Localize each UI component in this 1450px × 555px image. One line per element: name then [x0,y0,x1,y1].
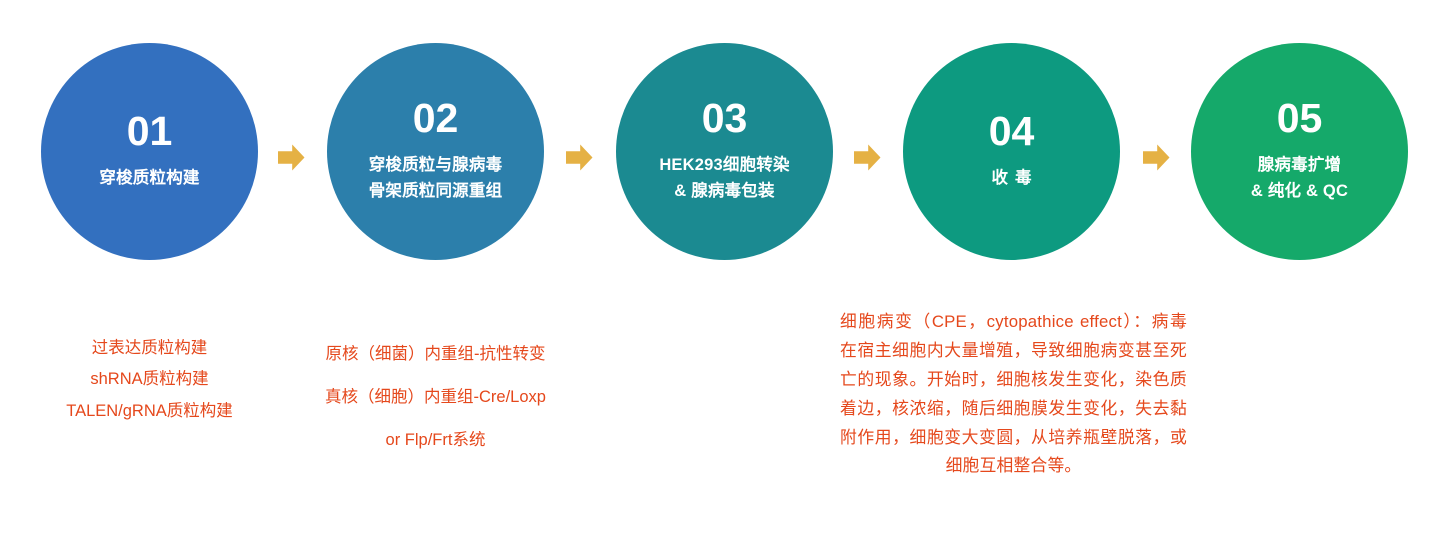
right-arrow-icon [278,143,305,172]
step-captions-01: 过表达质粒构建 shRNA质粒构建 TALEN/gRNA质粒构建 [20,333,279,427]
step-circle-04[interactable]: 04 收毒 [903,43,1120,260]
process-flow-diagram: 01 穿梭质粒构建 02 穿梭质粒与腺病毒 骨架质粒同源重组 03 HEK293… [0,0,1450,555]
caption-line: 真核（细胞）内重组-Cre/Loxp or Flp/Frt系统 [292,376,579,462]
right-arrow-icon [566,143,593,172]
step-title-01: 穿梭质粒构建 [99,166,199,192]
step-number-04: 04 [989,111,1035,152]
step-circle-02[interactable]: 02 穿梭质粒与腺病毒 骨架质粒同源重组 [327,43,544,260]
step-captions-02: 原核（细菌）内重组-抗性转变 真核（细胞）内重组-Cre/Loxp or Flp… [292,333,579,462]
caption-line: 过表达质粒构建 [20,333,279,364]
step-captions-04: 细胞病变（CPE，cytopathice effect）：病毒在宿主细胞内大量增… [840,308,1187,481]
step-title-03: HEK293细胞转染 & 腺病毒包装 [659,153,789,204]
step-number-01: 01 [127,111,173,152]
step-circle-05[interactable]: 05 腺病毒扩增 & 纯化 & QC [1191,43,1408,260]
right-arrow-icon [854,143,881,172]
step-number-03: 03 [702,98,748,139]
caption-line: TALEN/gRNA质粒构建 [20,396,279,427]
step-title-05: 腺病毒扩增 & 纯化 & QC [1251,153,1348,204]
caption-line: shRNA质粒构建 [20,364,279,395]
step-number-02: 02 [413,98,459,139]
step-title-02: 穿梭质粒与腺病毒 骨架质粒同源重组 [369,153,503,204]
right-arrow-icon [1143,143,1170,172]
step-number-05: 05 [1277,98,1323,139]
step-title-04: 收毒 [985,166,1039,192]
step-circle-03[interactable]: 03 HEK293细胞转染 & 腺病毒包装 [616,43,833,260]
step-circle-01[interactable]: 01 穿梭质粒构建 [41,43,258,260]
caption-line: 原核（细菌）内重组-抗性转变 [292,333,579,376]
